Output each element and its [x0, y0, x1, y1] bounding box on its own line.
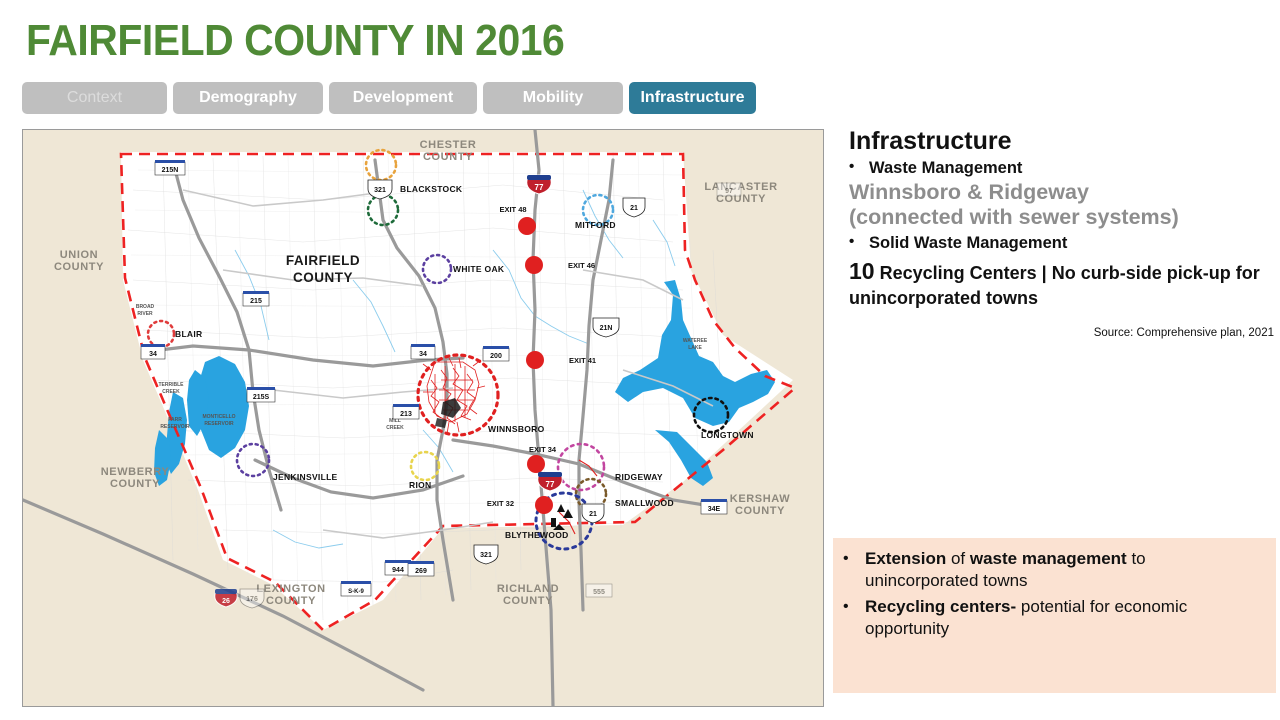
stat-number: 10	[849, 258, 875, 284]
svg-text:WHITE OAK: WHITE OAK	[453, 264, 505, 274]
svg-text:215N: 215N	[162, 167, 179, 174]
stat-text: Recycling Centers | No curb-side pick-up…	[849, 263, 1260, 308]
svg-text:CHESTER: CHESTER	[420, 139, 477, 151]
svg-text:NEWBERRY: NEWBERRY	[101, 466, 170, 478]
svg-text:77: 77	[546, 480, 555, 489]
bullet-glyph-icon: •	[843, 596, 865, 618]
svg-text:34: 34	[149, 351, 157, 358]
svg-text:EXIT 46: EXIT 46	[568, 261, 595, 270]
svg-text:RESERVOIR: RESERVOIR	[160, 424, 190, 430]
svg-text:97: 97	[725, 188, 733, 195]
svg-text:EXIT 32: EXIT 32	[487, 499, 514, 508]
svg-text:EXIT 48: EXIT 48	[499, 205, 526, 214]
svg-text:BROAD: BROAD	[136, 304, 155, 310]
svg-text:RION: RION	[409, 480, 431, 490]
callout-1-bold-2: waste management	[970, 549, 1127, 568]
svg-text:CREEK: CREEK	[386, 425, 404, 431]
callout-item-2: • Recycling centers- potential for econo…	[843, 596, 1262, 641]
svg-text:KERSHAW: KERSHAW	[730, 493, 790, 505]
svg-text:RESERVOIR: RESERVOIR	[204, 421, 234, 427]
svg-text:BLACKSTOCK: BLACKSTOCK	[400, 184, 463, 194]
callout-2-mid: -	[1011, 597, 1021, 616]
callout-1-bold-1: Extension	[865, 549, 946, 568]
bullet-label-waste-management: Waste Management	[869, 158, 1022, 179]
bullet-waste-management: • Waste Management	[849, 158, 1274, 179]
svg-text:SMALLWOOD: SMALLWOOD	[615, 498, 674, 508]
svg-text:COUNTY: COUNTY	[110, 478, 160, 490]
svg-text:215: 215	[250, 298, 262, 305]
page-title: FAIRFIELD COUNTY IN 2016	[26, 16, 564, 66]
svg-text:EXIT 41: EXIT 41	[569, 356, 596, 365]
svg-text:176: 176	[246, 596, 258, 603]
svg-text:MONTICELLO: MONTICELLO	[202, 414, 235, 420]
bullet-glyph-icon: •	[849, 158, 869, 177]
tab-infrastructure[interactable]: Infrastructure	[629, 82, 756, 114]
svg-text:COUNTY: COUNTY	[54, 261, 104, 273]
infrastructure-panel: Infrastructure • Waste Management Winnsb…	[849, 128, 1274, 339]
callout-text-2: Recycling centers- potential for economi…	[865, 596, 1262, 641]
svg-text:21N: 21N	[600, 325, 613, 332]
callout-text-1: Extension of waste management to unincor…	[865, 548, 1262, 593]
svg-text:RICHLAND: RICHLAND	[497, 583, 559, 595]
bullet-solid-waste-management: • Solid Waste Management	[849, 233, 1274, 254]
tab-bar: Context Demography Development Mobility …	[22, 82, 756, 114]
svg-text:TERRIBLE: TERRIBLE	[159, 382, 185, 388]
svg-text:BLAIR: BLAIR	[175, 329, 202, 339]
svg-text:269: 269	[415, 568, 427, 575]
svg-text:COUNTY: COUNTY	[423, 151, 473, 163]
svg-text:S-K-9: S-K-9	[348, 589, 364, 595]
svg-text:321: 321	[374, 187, 386, 194]
svg-text:34E: 34E	[708, 506, 721, 513]
svg-text:944: 944	[392, 567, 404, 574]
svg-text:21: 21	[589, 511, 597, 518]
tab-demography[interactable]: Demography	[173, 82, 323, 114]
callout-item-1: • Extension of waste management to uninc…	[843, 548, 1262, 593]
svg-text:213: 213	[400, 411, 412, 418]
svg-text:COUNTY: COUNTY	[293, 270, 353, 285]
svg-text:321: 321	[480, 552, 492, 559]
gray-text-line-1: Winnsboro & Ridgeway	[849, 180, 1274, 205]
svg-text:215S: 215S	[253, 394, 270, 401]
svg-text:PARR: PARR	[168, 417, 182, 423]
source-note: Source: Comprehensive plan, 2021	[849, 327, 1274, 339]
svg-text:34: 34	[419, 351, 427, 358]
svg-text:LEXINGTON: LEXINGTON	[256, 583, 325, 595]
recycling-stat-line: 10 Recycling Centers | No curb-side pick…	[849, 257, 1274, 310]
svg-text:WATEREE: WATEREE	[683, 338, 708, 344]
gray-text-line-2: (connected with sewer systems)	[849, 205, 1274, 230]
svg-text:RIDGEWAY: RIDGEWAY	[615, 472, 663, 482]
svg-text:555: 555	[593, 589, 605, 596]
tab-development[interactable]: Development	[329, 82, 477, 114]
bullet-glyph-icon: •	[843, 548, 865, 570]
svg-text:MITFORD: MITFORD	[575, 220, 616, 230]
svg-text:LAKE: LAKE	[688, 345, 702, 351]
bullet-label-solid-waste-management: Solid Waste Management	[869, 233, 1067, 254]
svg-text:BLYTHEWOOD: BLYTHEWOOD	[505, 530, 569, 540]
tab-mobility[interactable]: Mobility	[483, 82, 623, 114]
svg-text:WINNSBORO: WINNSBORO	[488, 424, 545, 434]
map-canvas: CHESTER COUNTY LANCASTER COUNTY UNION CO…	[23, 130, 823, 706]
svg-text:JENKINSVILLE: JENKINSVILLE	[273, 472, 338, 482]
svg-text:UNION: UNION	[60, 249, 98, 261]
svg-text:COUNTY: COUNTY	[503, 595, 553, 607]
svg-text:21: 21	[630, 205, 638, 212]
takeaway-callout: • Extension of waste management to uninc…	[833, 538, 1276, 693]
panel-heading: Infrastructure	[849, 128, 1274, 156]
svg-text:EXIT 34: EXIT 34	[529, 445, 557, 454]
svg-text:77: 77	[535, 183, 544, 192]
svg-text:FAIRFIELD: FAIRFIELD	[286, 253, 360, 268]
bullet-glyph-icon: •	[849, 233, 869, 252]
svg-text:26: 26	[222, 598, 230, 605]
svg-text:CREEK: CREEK	[162, 389, 180, 395]
svg-text:LONGTOWN: LONGTOWN	[701, 430, 754, 440]
svg-text:COUNTY: COUNTY	[266, 595, 316, 607]
tab-context[interactable]: Context	[22, 82, 167, 114]
callout-2-bold-1: Recycling centers	[865, 597, 1011, 616]
svg-text:RIVER: RIVER	[137, 311, 153, 317]
callout-1-mid: of	[946, 549, 970, 568]
map-figure[interactable]: CHESTER COUNTY LANCASTER COUNTY UNION CO…	[22, 129, 824, 707]
svg-text:COUNTY: COUNTY	[735, 505, 785, 517]
svg-text:200: 200	[490, 353, 502, 360]
